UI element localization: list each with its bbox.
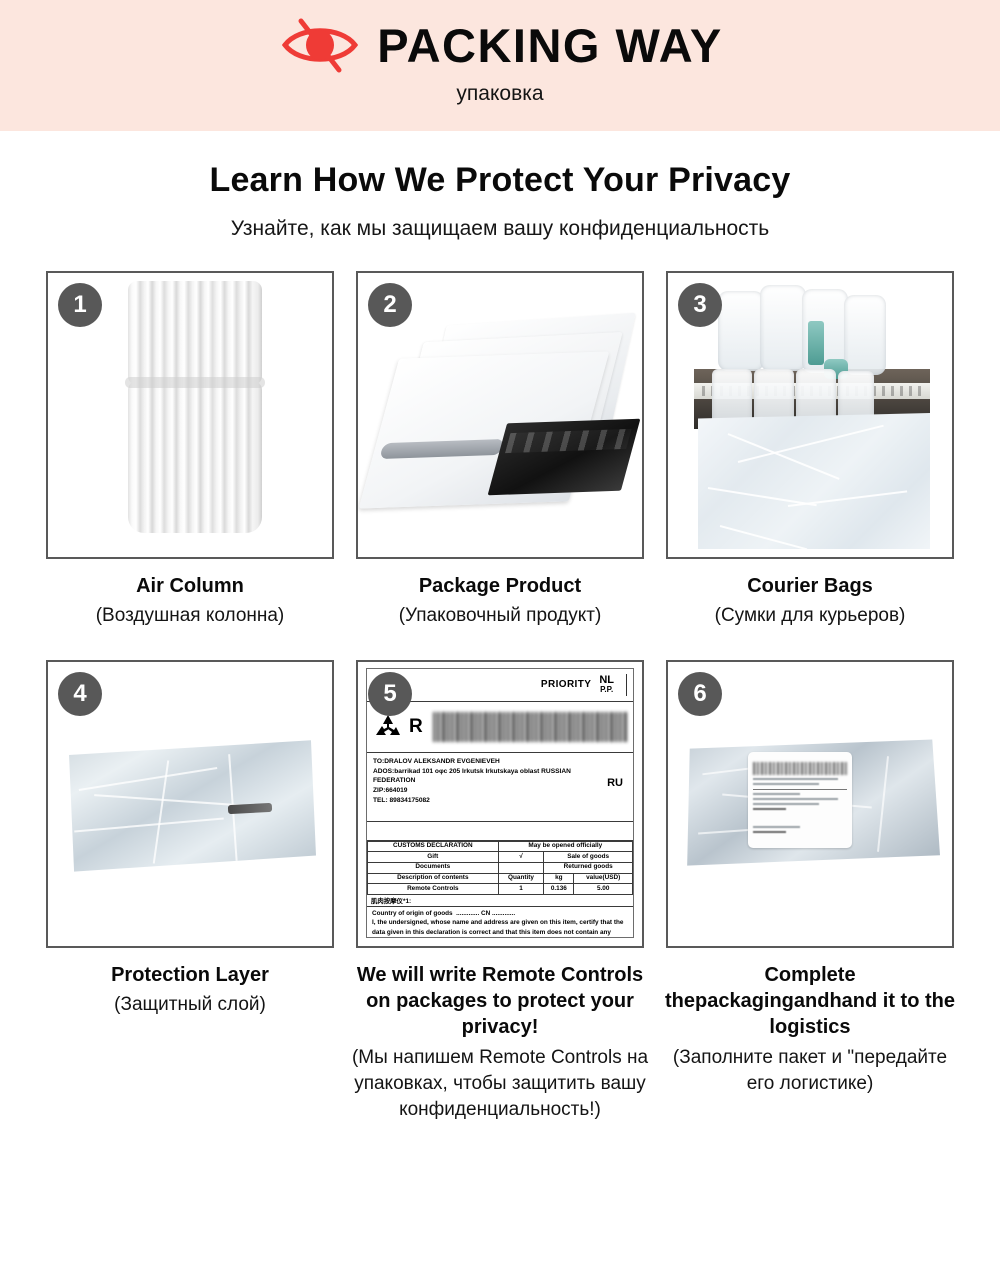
table-row: Description of contents Quantity kg valu… [368, 873, 633, 884]
customs-row-returned: Returned goods [544, 862, 633, 873]
step-card-5: 5 PRIORITY NL P.P. [356, 660, 644, 948]
customs-row-documents: Documents [368, 862, 499, 873]
step-caption-ru-6: (Заполните пакет и "передайте его логист… [660, 1045, 960, 1097]
step-caption-5: We will write Remote Controls on package… [350, 962, 650, 1124]
brand-subtitle: упаковка [456, 82, 543, 106]
step-badge-3: 3 [678, 283, 722, 327]
customs-declaration-table: CUSTOMS DECLARATION May be opened offici… [367, 841, 633, 895]
step-card-6: 6 [666, 660, 954, 948]
step-caption-ru-2: (Упаковочный продукт) [350, 603, 650, 629]
label-origin-label: Country of origin of goods [372, 910, 453, 917]
step-card-3: 3 [666, 271, 954, 559]
label-cn-note: 肌肉按摩仪*1: [367, 895, 633, 907]
customs-row-gift: Gift [368, 852, 499, 863]
parcel-label-rule [753, 789, 847, 790]
step-caption-ru-3: (Сумки для курьеров) [660, 603, 960, 629]
label-postage-paid: P.P. [599, 686, 614, 694]
customs-item-value: 5.00 [574, 884, 633, 895]
steps-grid-row-2: 4 Protection Layer (Защитный слой) 5 [0, 660, 1000, 1124]
step-caption-ru-5: (Мы напишем Remote Controls на упаковках… [350, 1045, 650, 1124]
customs-empty-cell [498, 862, 544, 873]
step-badge-1: 1 [58, 283, 102, 327]
headline-title-en: Learn How We Protect Your Privacy [0, 161, 1000, 200]
label-declaration-text: I, the undersigned, whose name and addre… [372, 918, 628, 937]
table-row: Remote Controls 1 0.136 5.00 [368, 884, 633, 895]
step-caption-1: Air Column (Воздушная колонна) [40, 573, 340, 630]
parcel-label-line [753, 783, 819, 785]
parcel-label-sticker [748, 752, 852, 848]
step-caption-ru-4: (Защитный слой) [40, 992, 340, 1018]
step-cell-2: 2 Package Product (Упаковочный продукт) [347, 271, 653, 630]
label-divider [626, 674, 627, 696]
label-blank-row [367, 822, 633, 841]
brand-row: PACKING WAY [277, 14, 723, 76]
customs-item-quantity: 1 [498, 884, 544, 895]
recycle-letter: R [409, 716, 423, 738]
label-address-line2: FEDERATION [373, 776, 627, 786]
step-cell-6: 6 [657, 660, 963, 1124]
customs-item-description: Remote Controls [368, 884, 499, 895]
parcel-label-line [753, 803, 819, 805]
headline-title-ru: Узнайте, как мы защищаем вашу конфиденци… [0, 217, 1000, 241]
step-card-4: 4 [46, 660, 334, 948]
step-cell-1: 1 Air Column (Воздушная колонна) [37, 271, 343, 630]
label-address-line: ADOS:barrikad 101 оφс 205 Irkutsk Irkuts… [373, 767, 627, 777]
step-caption-4: Protection Layer (Защитный слой) [40, 962, 340, 1019]
step-caption-6: Complete thepackagingandhand it to the l… [660, 962, 960, 1098]
step-caption-en-2: Package Product [350, 573, 650, 599]
step-caption-en-4: Protection Layer [40, 962, 340, 988]
step-card-2: 2 [356, 271, 644, 559]
step-cell-5: 5 PRIORITY NL P.P. [347, 660, 653, 1124]
barcode-blurred [433, 712, 627, 742]
steps-grid-row-1: 1 Air Column (Воздушная колонна) 2 [0, 271, 1000, 630]
customs-row-sale: Sale of goods [544, 852, 633, 863]
label-fine-print: Country of origin of goods .............… [367, 907, 633, 938]
step-badge-4: 4 [58, 672, 102, 716]
customs-col-value: value(USD) [574, 873, 633, 884]
parcel-label-header [753, 756, 847, 760]
step-badge-2: 2 [368, 283, 412, 327]
step-caption-en-6: Complete thepackagingandhand it to the l… [660, 962, 960, 1041]
step-caption-en-5: We will write Remote Controls on package… [350, 962, 650, 1041]
step-caption-3: Courier Bags (Сумки для курьеров) [660, 573, 960, 630]
step-caption-2: Package Product (Упаковочный продукт) [350, 573, 650, 630]
step-caption-ru-1: (Воздушная колонна) [40, 603, 340, 629]
customs-col-quantity: Quantity [498, 873, 544, 884]
label-destination-code: RU [607, 777, 623, 789]
parcel-label-line [753, 831, 786, 833]
label-tel: TEL: 89834175082 [373, 796, 627, 806]
label-country-block: NL P.P. [599, 675, 614, 695]
step-badge-5: 5 [368, 672, 412, 716]
parcel-label-line [753, 826, 800, 828]
parcel-label-line [753, 793, 800, 795]
header-band: PACKING WAY упаковка [0, 0, 1000, 131]
customs-col-kg: kg [544, 873, 574, 884]
recycle-icon [373, 713, 403, 741]
step-badge-6: 6 [678, 672, 722, 716]
parcel-label-footer [753, 826, 847, 833]
parcel-label-line [753, 798, 838, 800]
parcel-label-barcode-blurred [753, 762, 847, 775]
label-origin-value: CN [481, 910, 490, 917]
step-card-1: 1 [46, 271, 334, 559]
table-row: Documents Returned goods [368, 862, 633, 873]
step-cell-3: 3 [657, 271, 963, 630]
table-row: CUSTOMS DECLARATION May be opened offici… [368, 841, 633, 852]
table-row: Gift √ Sale of goods [368, 852, 633, 863]
brand-title: PACKING WAY [377, 22, 723, 69]
customs-gift-check: √ [498, 852, 544, 863]
step-caption-en-3: Courier Bags [660, 573, 960, 599]
parcel-label-line [753, 778, 838, 780]
label-to-line: TO:DRALOV ALEKSANDR EVGENIEVEH [373, 757, 627, 767]
customs-item-kg: 0.136 [544, 884, 574, 895]
eye-slash-icon [277, 14, 363, 76]
step-cell-4: 4 Protection Layer (Защитный слой) [37, 660, 343, 1124]
label-address-block: TO:DRALOV ALEKSANDR EVGENIEVEH ADOS:barr… [367, 753, 633, 822]
parcel-label-line [753, 808, 786, 810]
label-zip: ZIP:664019 [373, 786, 627, 796]
headline-section: Learn How We Protect Your Privacy Узнайт… [0, 131, 1000, 241]
label-origin-line: Country of origin of goods .............… [372, 909, 628, 919]
customs-col-description: Description of contents [368, 873, 499, 884]
customs-may-be-opened: May be opened officially [498, 841, 632, 852]
step-caption-en-1: Air Column [40, 573, 340, 599]
customs-title: CUSTOMS DECLARATION [368, 841, 499, 852]
label-priority-text: PRIORITY [541, 679, 591, 690]
label-barcode-row: R [367, 702, 633, 753]
